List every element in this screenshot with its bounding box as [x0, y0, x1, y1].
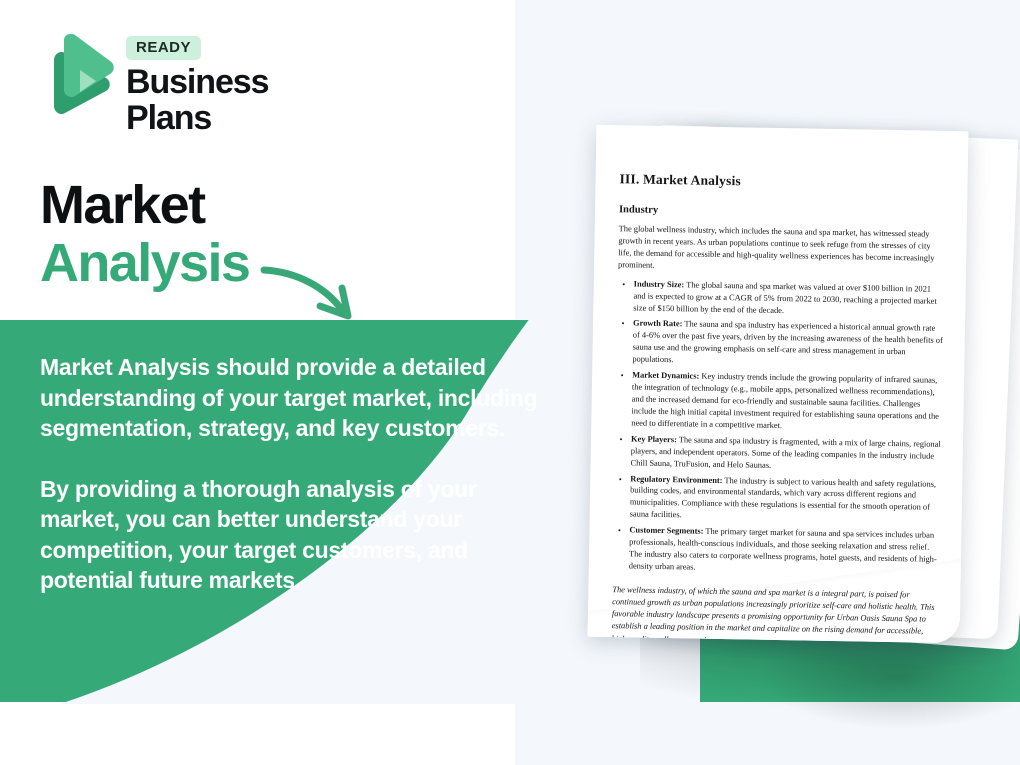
brand-logotype: READY Business Plans — [126, 36, 330, 136]
document-bullet-label: Market Dynamics: — [632, 371, 699, 381]
document-bullet-item: Customer Segments: The primary target ma… — [629, 525, 940, 578]
document-bullet-item: Market Dynamics: Key industry trends inc… — [631, 370, 942, 435]
document-summary-paragraph: The wellness industry, of which the saun… — [611, 584, 938, 643]
body-paragraph-1: Market Analysis should provide a detaile… — [40, 352, 560, 444]
ready-badge: READY — [126, 36, 201, 60]
page-title-line-2: Analysis — [40, 236, 249, 290]
document-intro-paragraph: The global wellness industry, which incl… — [618, 223, 945, 276]
document-bullet-item: Key Players: The sauna and spa industry … — [630, 433, 941, 474]
document-bullet-text: The sauna and spa industry is fragmented… — [631, 435, 941, 469]
document-heading: III. Market Analysis — [619, 171, 945, 193]
document-bullet-label: Key Players: — [631, 434, 677, 444]
body-paragraph-2: By providing a thorough analysis of your… — [40, 474, 560, 596]
document-bullet-item: Regulatory Environment: The industry is … — [630, 473, 941, 526]
document-bullet-item: Industry Size: The global sauna and spa … — [633, 278, 944, 319]
play-triangle-logo-icon — [40, 34, 114, 114]
document-content: III. Market Analysis Industry The global… — [588, 125, 969, 643]
document-bullet-label: Customer Segments: — [629, 526, 703, 536]
document-subheading: Industry — [619, 204, 945, 221]
document-page-front: III. Market Analysis Industry The global… — [588, 125, 969, 643]
document-bullet-label: Growth Rate: — [633, 319, 683, 329]
document-bullet-label: Regulatory Environment: — [630, 474, 722, 485]
slide-canvas: growth2021ratesaunasregionalregionsurban… — [0, 0, 1020, 765]
page-title: Market Analysis — [40, 178, 249, 290]
document-bullet-item: Growth Rate: The sauna and spa industry … — [632, 318, 943, 371]
document-bullet-list: Industry Size: The global sauna and spa … — [613, 278, 944, 578]
document-bullet-text: Key industry trends include the growing … — [631, 372, 939, 430]
page-title-line-1: Market — [40, 178, 249, 232]
curved-arrow-down-right-icon — [258, 262, 368, 330]
body-copy: Market Analysis should provide a detaile… — [40, 352, 560, 596]
brand-logo[interactable]: READY Business Plans — [40, 32, 330, 120]
document-stack: growth2021ratesaunasregionalregionsurban… — [520, 100, 1020, 680]
document-bullet-label: Industry Size: — [634, 279, 685, 289]
brand-name: Business Plans — [126, 64, 330, 136]
